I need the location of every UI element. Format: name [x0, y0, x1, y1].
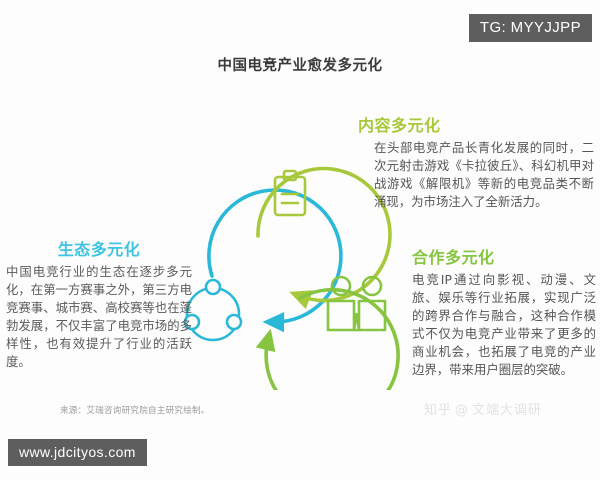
watermark-prefix: 知乎 — [424, 403, 452, 418]
tag-badge: TG: MYYJJPP — [469, 14, 592, 42]
two-people-icon — [328, 277, 385, 330]
section-cooperation-heading: 合作多元化 — [412, 248, 596, 267]
section-ecology-heading: 生态多元化 — [6, 240, 192, 259]
page-title: 中国电竞产业愈发多元化 — [0, 54, 600, 75]
watermark-handle: 文端大调研 — [472, 403, 542, 418]
infographic-canvas: 中国电竞产业愈发多元化 — [0, 0, 600, 480]
url-badge[interactable]: www.jdcityos.com — [8, 439, 147, 466]
watermark-logo-icon: @ — [455, 403, 469, 418]
arrow-cooperation-to-ecology — [266, 290, 398, 390]
section-content: 内容多元化 在头部电竞产品长青化发展的同时，二次元射击游戏《卡拉彼丘》、科幻机甲… — [358, 116, 594, 211]
network-nodes-icon — [185, 280, 241, 340]
section-ecology-body: 中国电竞行业的生态在逐步多元化，在第一方赛事之外，第三方电竞赛事、城市赛、高校赛… — [6, 263, 192, 371]
source-note: 来源：艾瑞咨询研究院自主研究绘制。 — [60, 404, 210, 416]
section-cooperation: 合作多元化 电竞IP通过向影视、动漫、文旅、娱乐等行业拓展，实现广泛的跨界合作与… — [412, 248, 596, 379]
section-content-body: 在头部电竞产品长青化发展的同时，二次元射击游戏《卡拉彼丘》、科幻机甲对战游戏《解… — [358, 139, 594, 211]
section-cooperation-body: 电竞IP通过向影视、动漫、文旅、娱乐等行业拓展，实现广泛的跨界合作与融合，这种合… — [412, 271, 596, 379]
clipboard-icon — [275, 171, 305, 215]
section-ecology: 生态多元化 中国电竞行业的生态在逐步多元化，在第一方赛事之外，第三方电竞赛事、城… — [6, 240, 192, 371]
circle-cooperation — [266, 290, 398, 390]
zhihu-watermark: 知乎@文端大调研 — [424, 399, 542, 418]
section-content-heading: 内容多元化 — [358, 116, 594, 135]
